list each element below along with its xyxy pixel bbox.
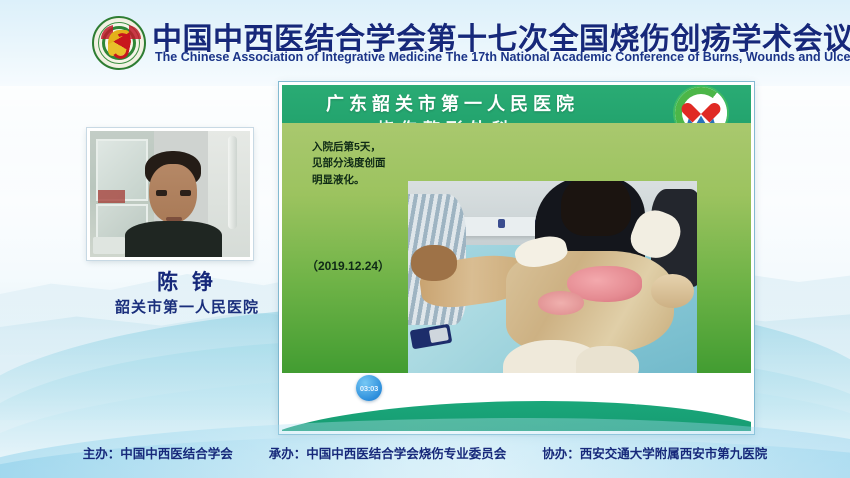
slide-note-text: 入院后第5天， 见部分浅度创面 明显液化。 (312, 139, 386, 188)
speaker-organization: 韶关市第一人民医院 (77, 296, 297, 317)
slide-timer-badge-label: 03:03 (356, 375, 382, 401)
speaker-shoulders (125, 221, 222, 257)
logo-symbol-icon (108, 30, 130, 56)
conference-header: 中国中西医结合学会第十七次全国烧伤创疡学术会议 The Chinese Asso… (0, 0, 850, 80)
webcam-red-object (98, 190, 125, 203)
burn-wound-dressing-photo: 2019-12-24 11:42 (408, 181, 697, 393)
footer-organizer-coorganizer: 协办：西安交通大学附属西安市第九医院 (542, 443, 767, 462)
photo-wound-area-secondary (538, 291, 584, 314)
photo-patient-head (651, 274, 694, 308)
speaker-name: 陈 铮 (87, 266, 287, 296)
broadcast-stage: 中国中西医结合学会第十七次全国烧伤创疡学术会议 The Chinese Asso… (0, 0, 850, 478)
slide-header-title: 广东韶关市第一人民医院 (326, 90, 579, 116)
speaker-eye-left (156, 190, 167, 195)
conference-title-en: The Chinese Association of Integrative M… (155, 50, 775, 64)
photo-clinician-hair (561, 181, 630, 236)
speaker-webcam[interactable] (90, 131, 250, 257)
footer-organizer-host: 主办：中国中西医结合学会 (83, 443, 233, 462)
footer-organizer-row: 主办：中国中西医结合学会 承办：中国中西医结合学会烧伤专业委员会 协办：西安交通… (0, 443, 850, 462)
slide-timer-badge[interactable]: 03:03 (356, 375, 382, 401)
presentation-slide-frame[interactable]: 广东韶关市第一人民医院 烧伤整形外科 入院后第5天， 见部分浅度创面 明显液化。… (279, 82, 754, 434)
webcam-counter (93, 237, 125, 255)
speaker-video-frame[interactable] (87, 128, 253, 260)
speaker-eye-right (180, 190, 191, 195)
photo-rail-clip-1 (498, 219, 505, 228)
footer-organizer-undertaker: 承办：中国中西医结合学会烧伤专业委员会 (269, 443, 507, 462)
conference-footer: 主办：中国中西医结合学会 承办：中国中西医结合学会烧伤专业委员会 协办：西安交通… (0, 418, 850, 478)
presentation-slide[interactable]: 广东韶关市第一人民医院 烧伤整形外科 入院后第5天， 见部分浅度创面 明显液化。… (282, 85, 751, 431)
cai-m-emblem-logo (92, 16, 146, 70)
slide-date-label: （2019.12.24） (306, 257, 390, 274)
speaker-figure (136, 151, 210, 257)
webcam-pipe (228, 136, 237, 229)
photo-helper-hand (411, 245, 457, 281)
heart-icon (689, 95, 713, 116)
